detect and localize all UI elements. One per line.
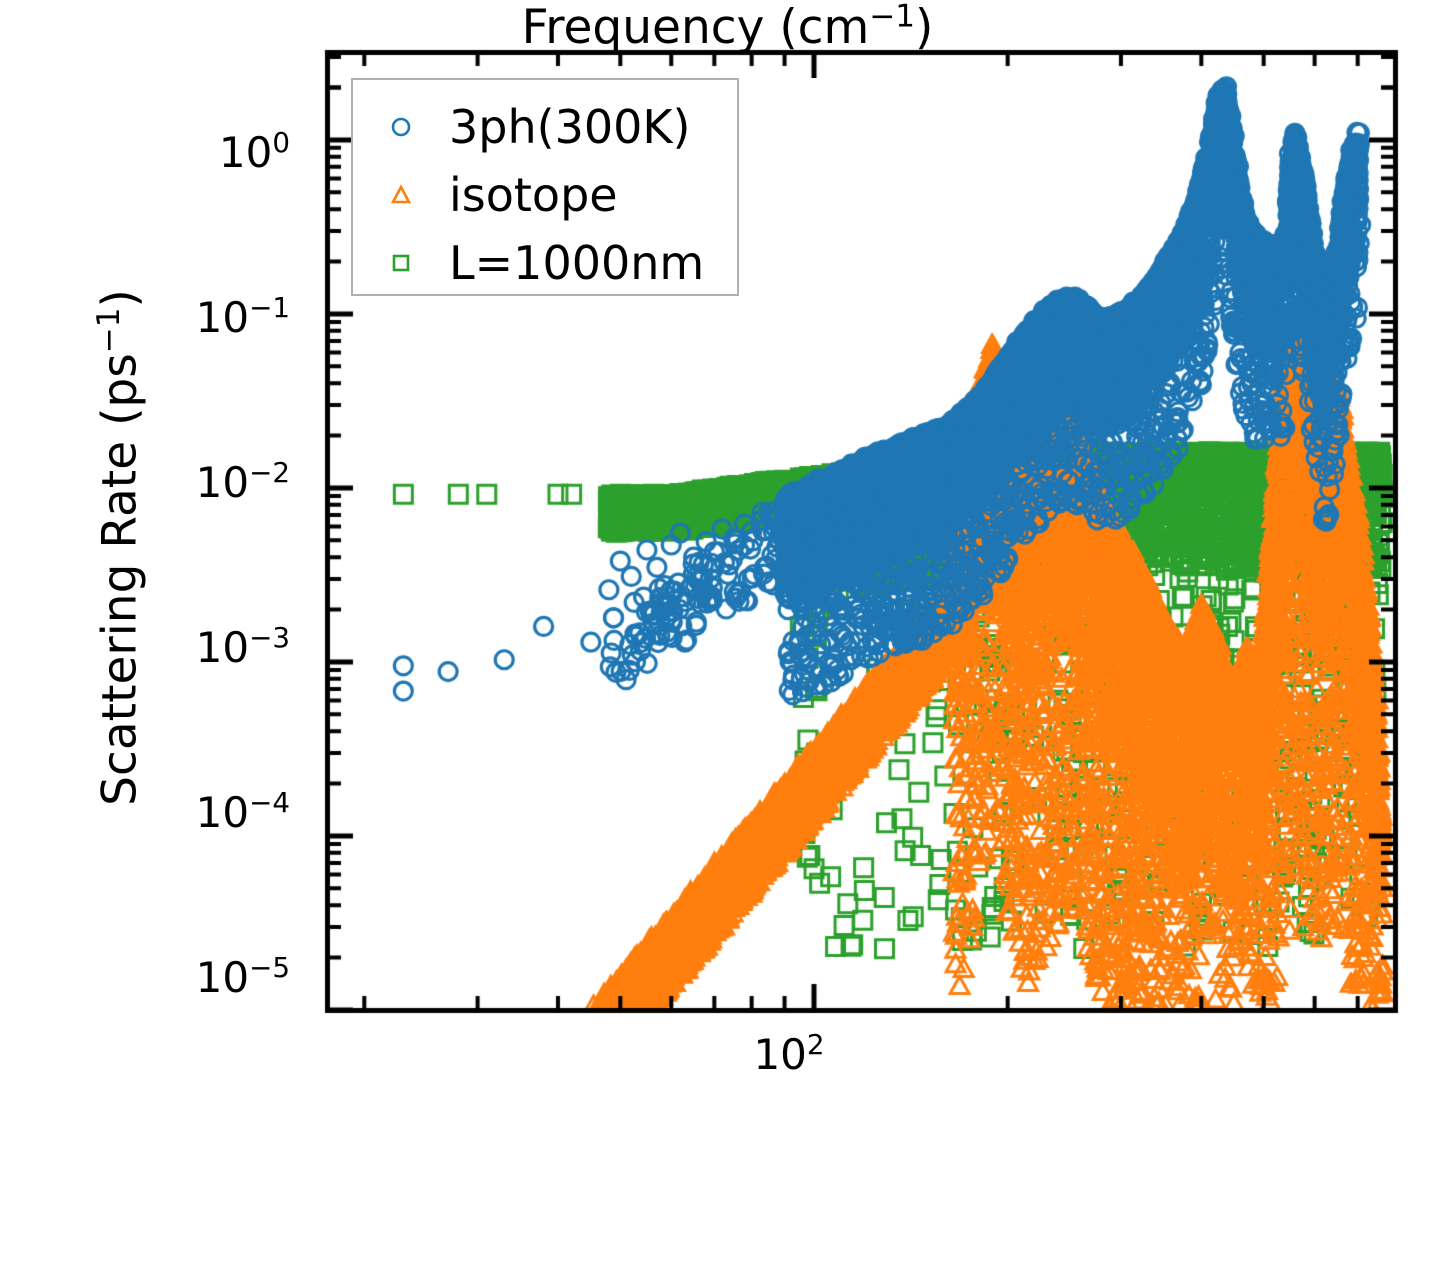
xtick-label-1e2: 102: [689, 1030, 889, 1079]
chart-legend: 3ph(300K) isotope L=1000nm: [351, 78, 739, 296]
legend-entry-boundary: L=1000nm: [353, 230, 737, 296]
legend-circle-icon: [353, 114, 449, 140]
legend-square-icon: [353, 250, 449, 276]
legend-entry-isotope: isotope: [353, 162, 737, 228]
legend-label-isotope: isotope: [449, 172, 618, 218]
legend-label-boundary: L=1000nm: [449, 240, 704, 286]
legend-triangle-icon: [353, 182, 449, 208]
legend-entry-3ph: 3ph(300K): [353, 94, 737, 160]
y-axis-label: Scattering Rate (ps−1): [93, 98, 148, 998]
x-axis-label: Frequency (cm−1): [0, 0, 1455, 55]
figure-container: 100 10−1 10−2 10−3 10−4 10−5 102 Frequen…: [0, 0, 1455, 1265]
legend-label-3ph: 3ph(300K): [449, 104, 690, 150]
